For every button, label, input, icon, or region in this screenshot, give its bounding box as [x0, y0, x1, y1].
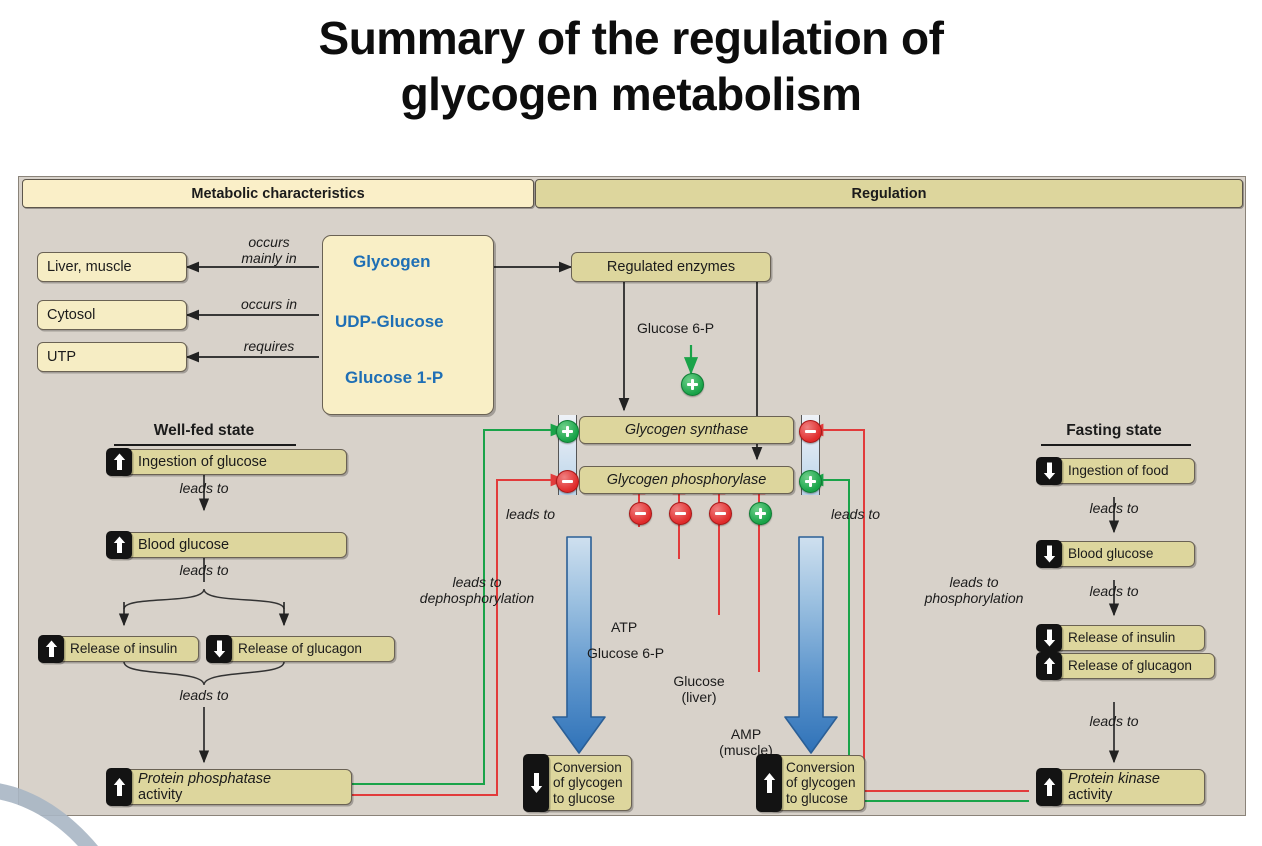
metabolic-box-liver-muscle: Liver, muscle: [37, 252, 187, 282]
step-label: Release of glucagon: [1048, 658, 1192, 673]
fasting-step-release-of-glucagon: Release of glucagon: [1047, 653, 1215, 679]
well-fed-final-text: Protein phosphatase activity: [118, 771, 271, 803]
down-arrow-icon: [1036, 540, 1062, 568]
up-arrow-icon: [1036, 652, 1062, 680]
down-arrow-icon: [206, 635, 232, 663]
title-line-2: glycogen metabolism: [0, 66, 1262, 122]
fasting-final-text: Protein kinase activity: [1048, 771, 1160, 803]
effector-label-atp: ATP: [611, 620, 637, 636]
enzyme-label: Glycogen synthase: [625, 422, 748, 438]
regulated-enzymes-label: Regulated enzymes: [607, 259, 735, 275]
fasting-step-ingestion-of-food: Ingestion of food: [1047, 458, 1195, 484]
corner-swoosh-decoration: [0, 776, 130, 846]
up-arrow-icon: [1036, 768, 1062, 806]
regulation-leads-to-left: leads to: [506, 507, 555, 523]
chem-glycogen: Glycogen: [353, 252, 430, 272]
fasting-step-blood-glucose: Blood glucose: [1047, 541, 1195, 567]
well-fed-heading-rule: [114, 444, 296, 446]
connector-caption-requires: requires: [215, 339, 323, 355]
chem-glucose-1p: Glucose 1-P: [345, 368, 443, 388]
step-label: Ingestion of food: [1048, 463, 1169, 478]
metabolic-box-utp: UTP: [37, 342, 187, 372]
effector-label-glucose-liver: Glucose (liver): [653, 674, 745, 706]
metabolic-box-label: UTP: [47, 349, 76, 365]
down-arrow-icon: [1036, 457, 1062, 485]
step-label: Blood glucose: [1048, 546, 1153, 561]
well-fed-final-protein-phosphatase: Protein phosphatase activity: [117, 769, 352, 805]
down-arrow-icon: [1036, 624, 1062, 652]
allosteric-glucose-6p-label: Glucose 6-P: [637, 321, 714, 337]
metabolic-box-label: Liver, muscle: [47, 259, 132, 275]
step-label: Release of insulin: [50, 641, 177, 656]
title-line-1: Summary of the regulation of: [0, 10, 1262, 66]
step-label: Release of glucagon: [218, 641, 362, 656]
well-fed-leads-to-1: leads to: [154, 481, 254, 497]
fasting-step-release-of-insulin: Release of insulin: [1047, 625, 1205, 651]
up-arrow-icon: [106, 448, 132, 476]
up-arrow-icon: [106, 531, 132, 559]
well-fed-step-ingestion-of-glucose: Ingestion of glucose: [117, 449, 347, 475]
left-column-inhibitor-badge: [556, 470, 579, 493]
enzyme-box-glycogen-phosphorylase: Glycogen phosphorylase: [579, 466, 794, 494]
right-column-activator-badge: [799, 470, 822, 493]
well-fed-step-release-of-glucagon: Release of glucagon: [217, 636, 395, 662]
fasting-pathway-label: leads to phosphorylation: [874, 575, 1074, 607]
step-label: Blood glucose: [118, 537, 229, 553]
effector-badge-glucose-6p: [669, 502, 692, 525]
up-arrow-icon: [756, 754, 782, 812]
well-fed-pathway-label: leads to dephosphorylation: [377, 575, 577, 607]
activator-badge-glucose-6p: [681, 373, 704, 396]
figure-panel: Metabolic characteristics Regulation: [18, 176, 1246, 816]
tab-regulation[interactable]: Regulation: [535, 179, 1243, 208]
well-fed-step-release-of-insulin: Release of insulin: [49, 636, 199, 662]
effector-badge-atp: [629, 502, 652, 525]
fasting-leads-to-3: leads to: [1064, 714, 1164, 730]
step-label: Ingestion of glucose: [118, 454, 267, 470]
effector-badge-glucose-liver: [709, 502, 732, 525]
up-arrow-icon: [38, 635, 64, 663]
connector-caption-occurs-mainly-in: occurs mainly in: [215, 235, 323, 267]
fasting-leads-to-2: leads to: [1064, 584, 1164, 600]
page-title: Summary of the regulation of glycogen me…: [0, 10, 1262, 122]
regulated-enzymes-box: Regulated enzymes: [571, 252, 771, 282]
glycogen-pathway-box: Glycogen UDP-Glucose Glucose 1-P: [322, 235, 494, 415]
connector-caption-occurs-in: occurs in: [215, 297, 323, 313]
fasting-heading: Fasting state: [1019, 422, 1209, 440]
well-fed-leads-to-2: leads to: [154, 563, 254, 579]
metabolic-box-cytosol: Cytosol: [37, 300, 187, 330]
metabolic-box-label: Cytosol: [47, 307, 95, 323]
enzyme-label: Glycogen phosphorylase: [607, 472, 767, 488]
left-column-activator-badge: [556, 420, 579, 443]
fasting-leads-to-1: leads to: [1064, 501, 1164, 517]
regulation-leads-to-right: leads to: [831, 507, 880, 523]
fasting-heading-rule: [1041, 444, 1191, 446]
outcome-box-right-conversion: Conversion of glycogen to glucose: [767, 755, 865, 811]
outcome-box-left-conversion: Conversion of glycogen to glucose: [534, 755, 632, 811]
well-fed-step-blood-glucose: Blood glucose: [117, 532, 347, 558]
down-arrow-icon: [523, 754, 549, 812]
right-column-inhibitor-badge: [799, 420, 822, 443]
well-fed-heading: Well-fed state: [99, 422, 309, 440]
enzyme-box-glycogen-synthase: Glycogen synthase: [579, 416, 794, 444]
tab-regulation-label: Regulation: [852, 186, 927, 202]
tab-metabolic-characteristics[interactable]: Metabolic characteristics: [22, 179, 534, 208]
fasting-final-protein-kinase: Protein kinase activity: [1047, 769, 1205, 805]
step-label: Release of insulin: [1048, 630, 1175, 645]
tab-metabolic-label: Metabolic characteristics: [191, 186, 364, 202]
effector-label-glucose-6p: Glucose 6-P: [587, 646, 664, 662]
effector-badge-amp-muscle: [749, 502, 772, 525]
well-fed-leads-to-3: leads to: [154, 688, 254, 704]
chem-udp-glucose: UDP-Glucose: [335, 312, 444, 332]
